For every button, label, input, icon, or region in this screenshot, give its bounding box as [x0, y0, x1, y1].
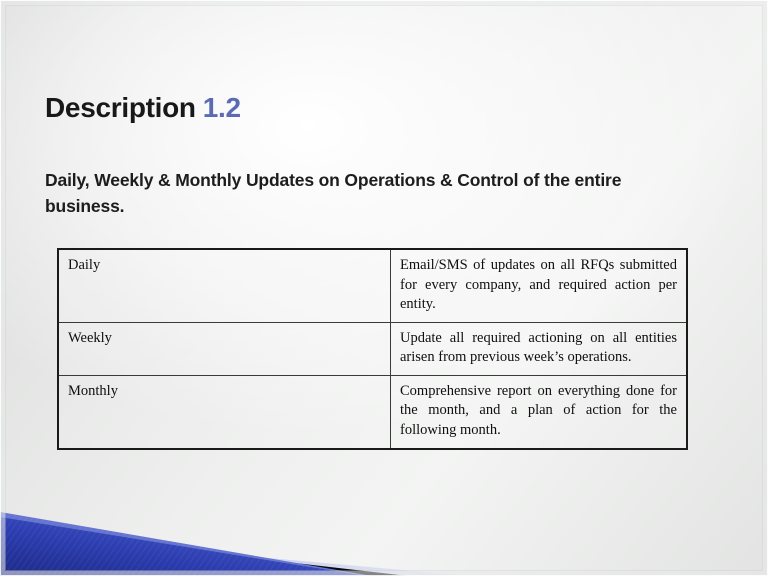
page-title-text: Description — [45, 92, 196, 123]
slide-subtitle: Daily, Weekly & Monthly Updates on Opera… — [45, 168, 705, 220]
blue-triangle-texture — [0, 512, 372, 576]
black-diagonal-band — [0, 529, 408, 576]
table-row: Monthly Comprehensive report on everythi… — [58, 375, 687, 448]
schedule-table-body: Daily Email/SMS of updates on all RFQs s… — [58, 249, 687, 449]
cell-description: Update all required actioning on all ent… — [391, 322, 688, 375]
schedule-table: Daily Email/SMS of updates on all RFQs s… — [57, 248, 688, 450]
cell-description: Email/SMS of updates on all RFQs submitt… — [391, 249, 688, 322]
cell-period: Daily — [58, 249, 391, 322]
cell-period: Monthly — [58, 375, 391, 448]
corner-decoration-graphic — [0, 476, 470, 576]
blue-triangle — [0, 512, 372, 576]
presentation-slide: Description1.2 Daily, Weekly & Monthly U… — [0, 0, 768, 576]
table-row: Daily Email/SMS of updates on all RFQs s… — [58, 249, 687, 322]
page-title-number: 1.2 — [203, 92, 241, 123]
page-title: Description1.2 — [45, 94, 241, 122]
lavender-stripe — [0, 534, 470, 576]
blue-triangle-highlight — [0, 512, 372, 576]
table-row: Weekly Update all required actioning on … — [58, 322, 687, 375]
cell-description: Comprehensive report on everything done … — [391, 375, 688, 448]
cell-period: Weekly — [58, 322, 391, 375]
